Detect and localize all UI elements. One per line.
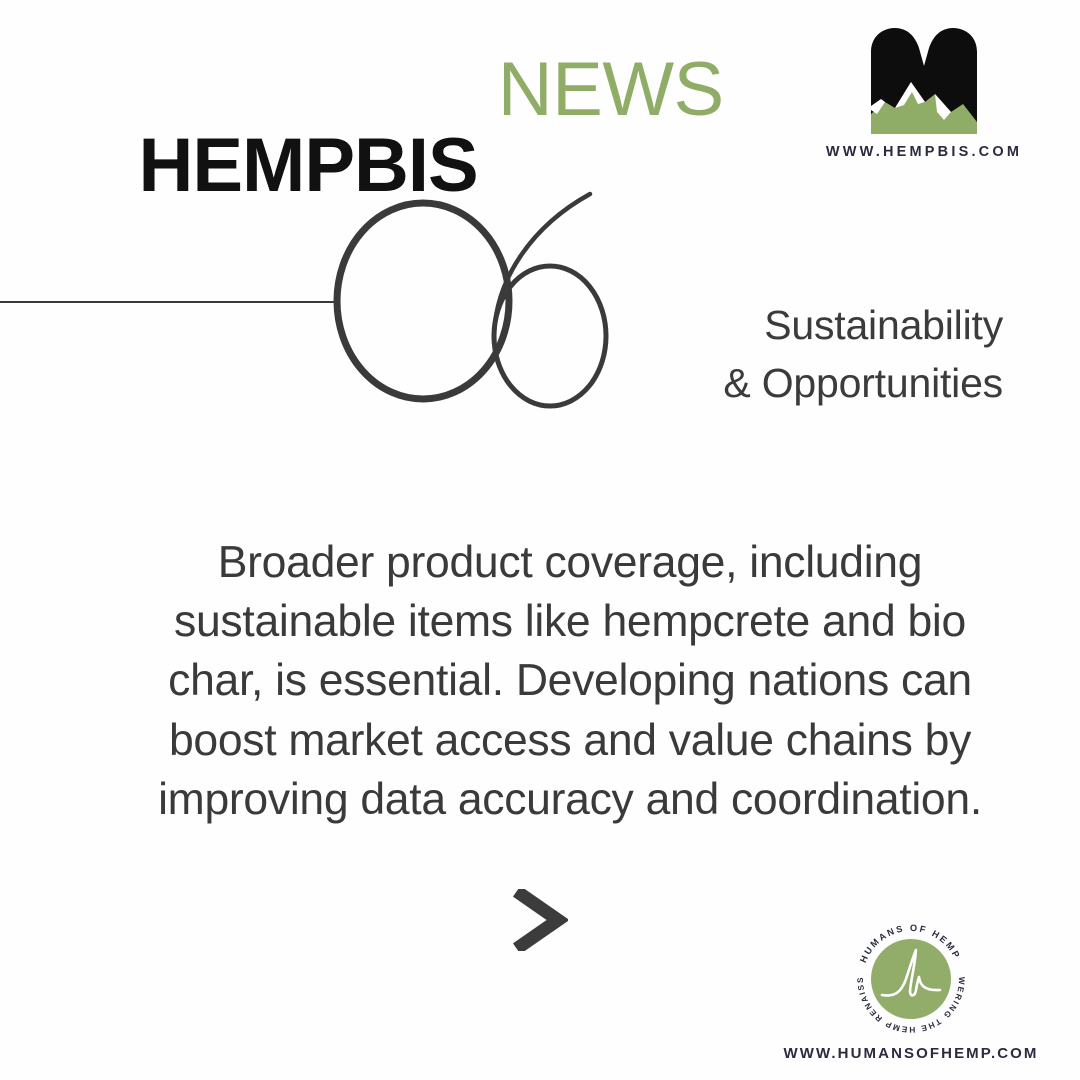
humans-of-hemp-badge: HUMANS OF HEMP EMPOWERING THE HEMP RENAI…: [766, 917, 1056, 1062]
section-title-line1: Sustainability: [483, 296, 1003, 354]
logo-news: NEWS: [498, 52, 724, 128]
section-title-line2: & Opportunities: [483, 354, 1003, 412]
hempbis-m-icon: [865, 26, 983, 134]
humansofhemp-website: WWW.HUMANSOFHEMP.COM: [766, 1045, 1056, 1062]
mountain-icon: [149, 80, 219, 126]
next-chevron-icon[interactable]: [512, 889, 568, 951]
slide-body-text: Broader product coverage, including sust…: [125, 533, 1015, 829]
section-rule: [0, 301, 340, 303]
hempbis-website: WWW.HEMPBIS.COM: [824, 144, 1024, 160]
humans-of-hemp-seal-icon: HUMANS OF HEMP EMPOWERING THE HEMP RENAI…: [849, 917, 973, 1041]
section-title: Sustainability & Opportunities: [483, 296, 1003, 412]
corner-brand: WWW.HEMPBIS.COM: [824, 26, 1024, 160]
